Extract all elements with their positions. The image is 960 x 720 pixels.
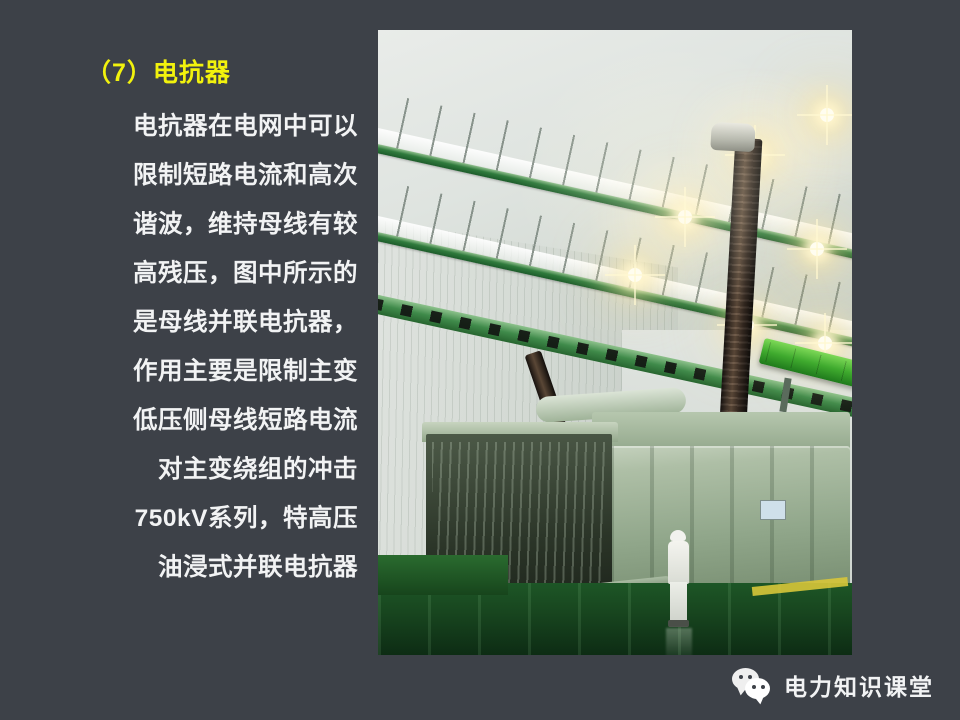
wechat-bubble-front [745, 678, 770, 699]
worker-boots [668, 620, 689, 627]
watermark: 电力知识课堂 [732, 668, 934, 702]
body-line: 对主变绕组的冲击 [58, 445, 358, 494]
wechat-dot [761, 685, 765, 689]
worker-reflection [666, 628, 692, 655]
body-line: 作用主要是限制主变 [58, 347, 358, 396]
wechat-dot [752, 685, 756, 689]
worker-helmet [670, 530, 686, 541]
body-line: 油浸式并联电抗器 [58, 543, 358, 592]
ceiling-lamp [820, 108, 834, 122]
body-line: 高残压，图中所示的 [58, 249, 358, 298]
hv-bushing-cap [710, 122, 755, 152]
body-line: 限制短路电流和高次 [58, 151, 358, 200]
page-title: （7）电抗器 [86, 58, 358, 88]
reactor-nameplate [760, 500, 786, 520]
body-line: 750kV系列，特高压 [58, 494, 358, 543]
photo-scene [378, 30, 852, 655]
ceiling-lamp [628, 268, 642, 282]
body-line: 谐波，维持母线有较 [58, 200, 358, 249]
body-text-block: 电抗器在电网中可以 限制短路电流和高次 谐波，维持母线有较 高残压，图中所示的 … [58, 102, 358, 592]
watermark-label: 电力知识课堂 [784, 668, 934, 702]
ceiling-lamp [818, 336, 832, 350]
wechat-dot [739, 675, 743, 679]
body-line: 电抗器在电网中可以 [58, 102, 358, 151]
text-column: （7）电抗器 电抗器在电网中可以 限制短路电流和高次 谐波，维持母线有较 高残压… [58, 58, 358, 592]
body-line: 低压侧母线短路电流 [58, 396, 358, 445]
hall-floor-ledge [378, 555, 508, 595]
body-line: 是母线并联电抗器， [58, 298, 358, 347]
wechat-dot [748, 675, 752, 679]
worker-figure [666, 530, 692, 628]
reactor-photo [378, 30, 852, 655]
wechat-icon [732, 668, 772, 702]
worker-torso [668, 541, 689, 584]
ceiling-lamp [678, 210, 692, 224]
slide-canvas: （7）电抗器 电抗器在电网中可以 限制短路电流和高次 谐波，维持母线有较 高残压… [0, 0, 960, 720]
ceiling-lamp [810, 242, 824, 256]
worker-legs [670, 582, 687, 622]
